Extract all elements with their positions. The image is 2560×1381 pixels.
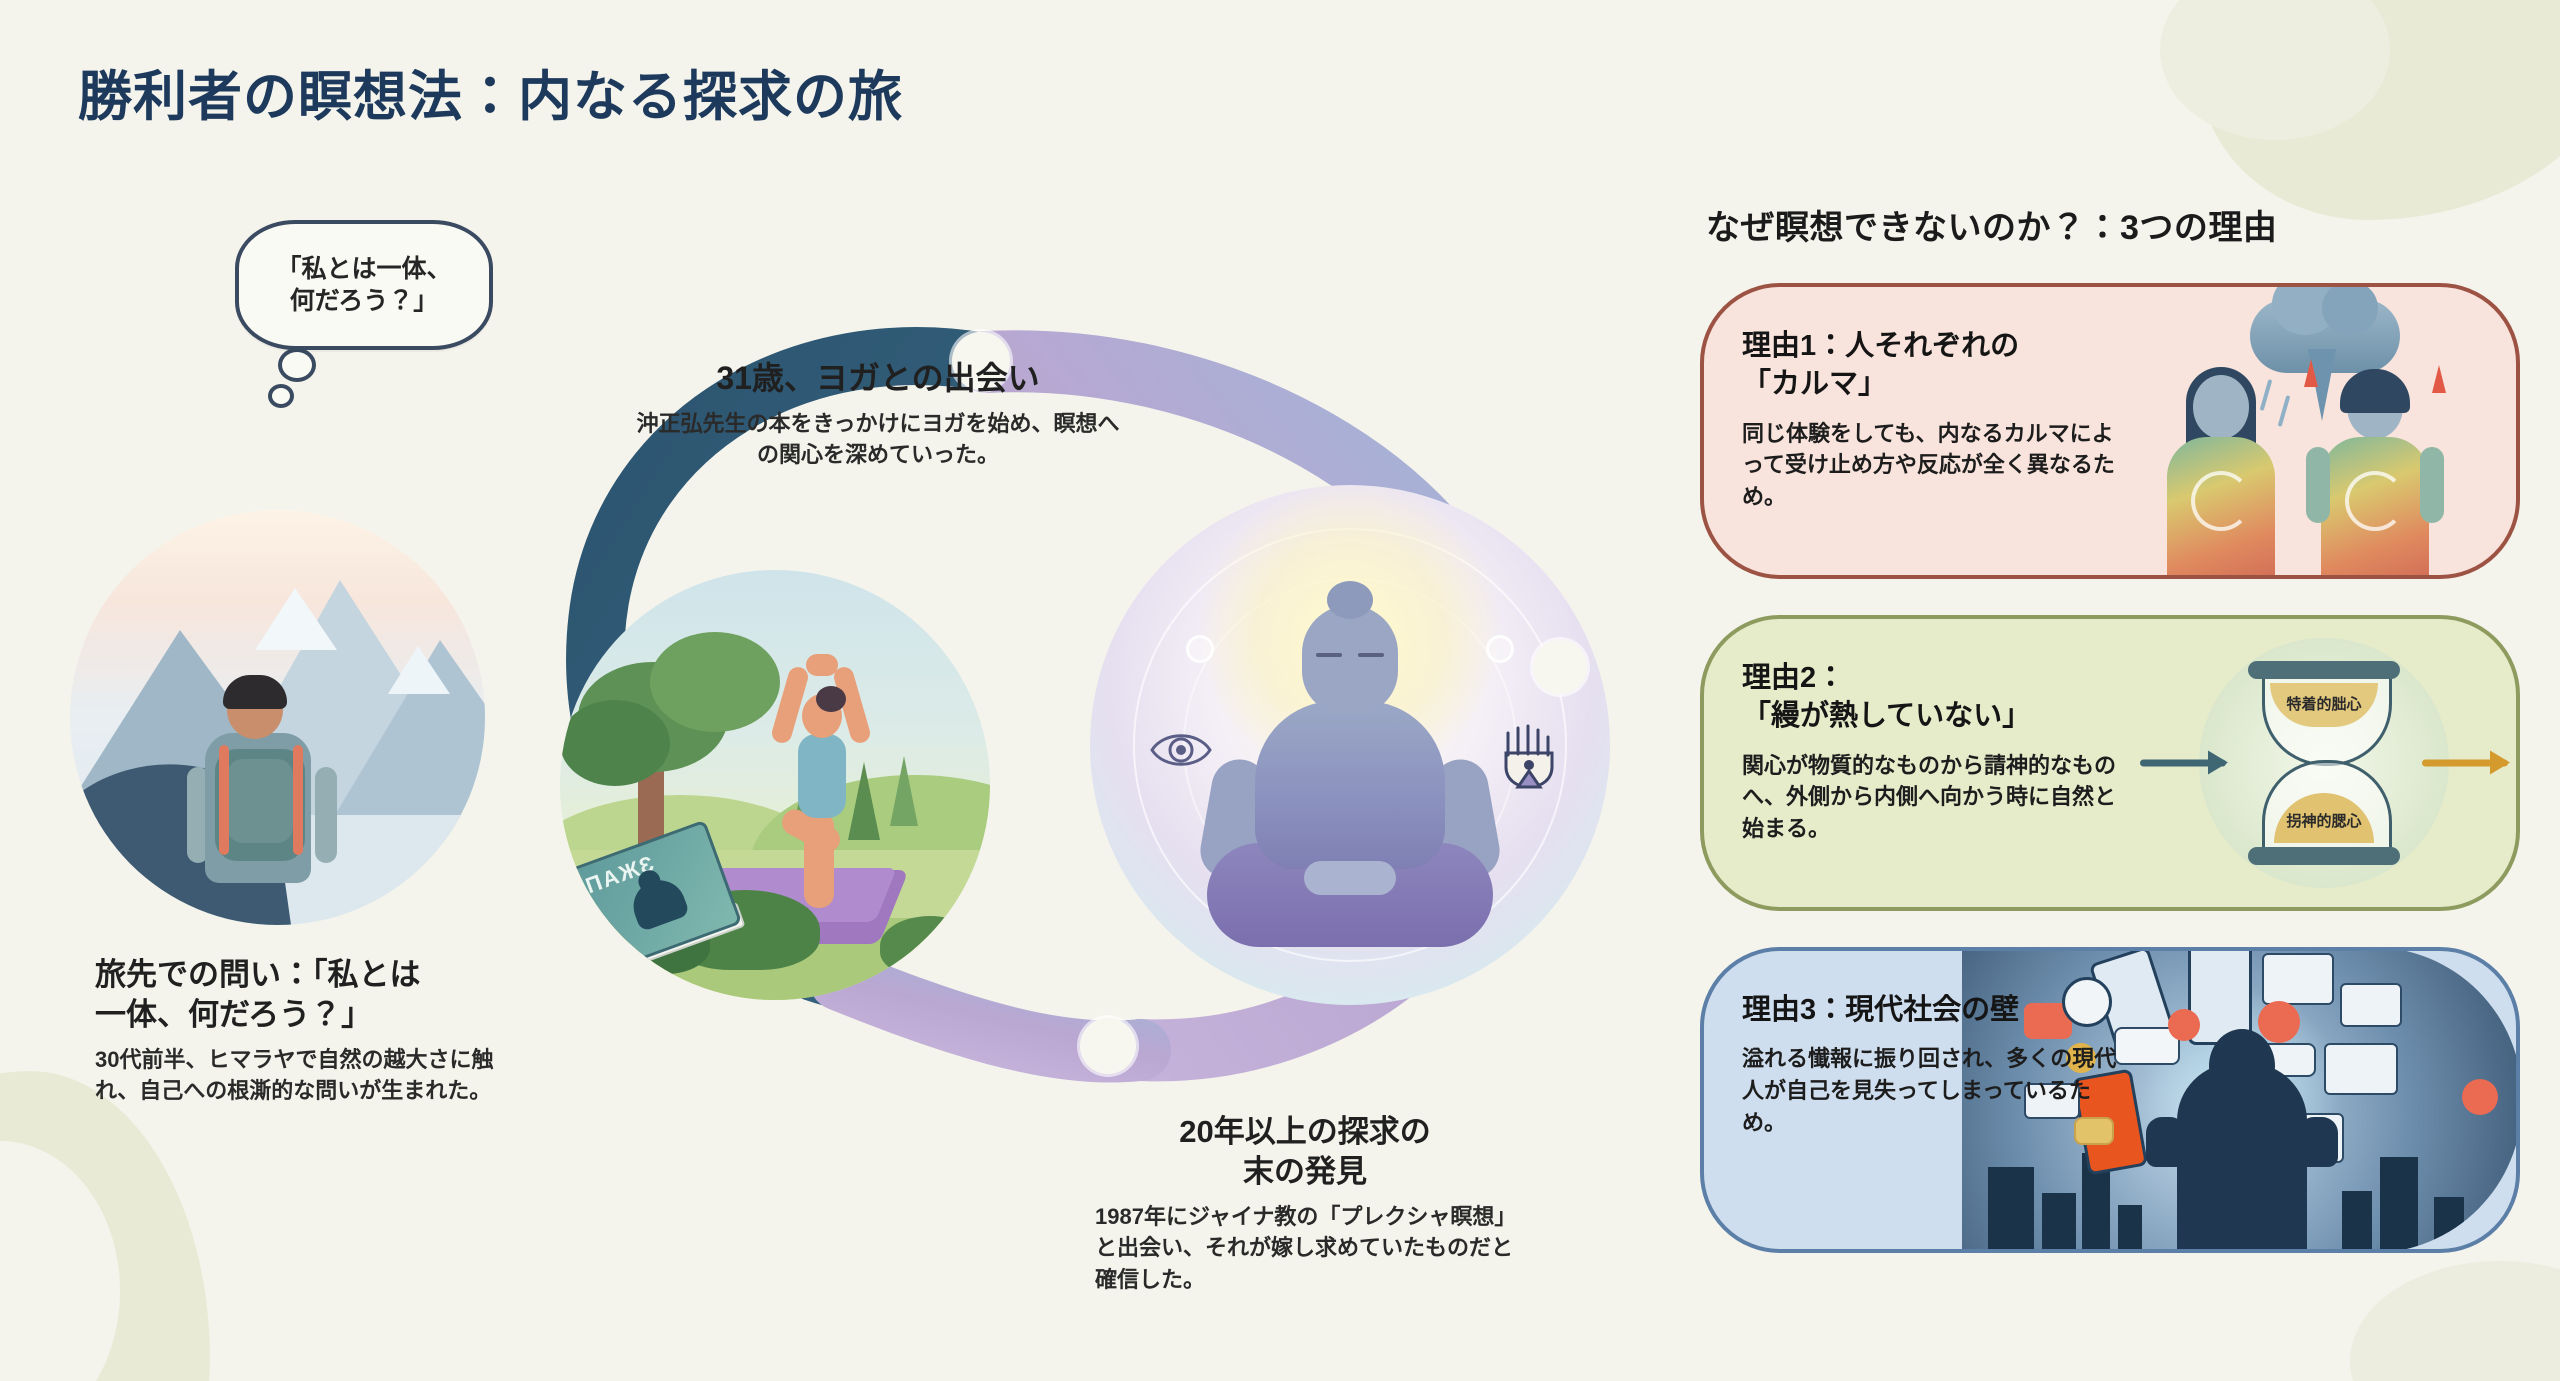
city-building-7 <box>2434 1197 2464 1253</box>
alert-icon-bubble <box>2462 1079 2498 1115</box>
hourglass-icon: 特着的胐心 拐神的腮心 <box>2248 661 2400 865</box>
reason-card-1-heading-line-1: 理由1：人それぞれの <box>1742 330 2019 362</box>
person-angry-hair <box>2340 369 2410 413</box>
yoga-standing-leg <box>804 812 834 908</box>
reason-card-3[interactable]: 理由3：現代社会の壁 溢れる懴報に振り回され、多くの現代人が自己を見失ってしまっ… <box>1700 947 2520 1253</box>
silhouette-body <box>2177 1063 2307 1253</box>
reasons-panel-title: なぜ瞑想できないのか？：3つの理由 <box>1706 200 2520 249</box>
buddha-head <box>1302 605 1398 715</box>
hiker-strap-left <box>219 745 229 855</box>
article-card-3 <box>2324 1043 2398 1095</box>
thought-bubble-dot-small <box>268 384 294 408</box>
article-card-2 <box>2340 983 2402 1027</box>
page-title: 勝利者の瞑想法：内なる探求の旅 <box>78 52 903 131</box>
person-angry-karma-spiral <box>2345 471 2405 531</box>
city-building-6 <box>2380 1157 2418 1253</box>
reason-card-2-body: 関心が物質的なものから請神的なものへ、外側から内側へ向かう時に自然と始まる。 <box>1742 750 2132 846</box>
arrow-left-icon <box>2140 760 2226 767</box>
caption-step-3-heading-line-1: 20年以上の探求の <box>1179 1114 1430 1149</box>
buddha-figure <box>1200 581 1500 961</box>
caption-step-1-heading-line-1: 旅先での問い：「私とは <box>95 957 421 992</box>
hourglass-cap-top <box>2248 661 2400 679</box>
yoga-torso <box>798 734 846 818</box>
reason-card-1-text: 理由1：人それぞれの 「カルマ」 同じ体験をしても、内なるカルマによって受け止め… <box>1704 287 2132 575</box>
hourglass-bottom-label: 拐神的腮心 <box>2248 810 2400 831</box>
reason-card-1-art <box>2132 287 2516 575</box>
thought-bubble-line-2: 何だろう？」 <box>276 285 451 318</box>
person-sad-head <box>2193 375 2249 439</box>
infographic-canvas: 勝利者の瞑想法：内なる探求の旅 <box>0 0 2560 1381</box>
reason-card-3-text: 理由3：現代社会の壁 溢れる懴報に振り回され、多くの現代人が自己を見失ってしまっ… <box>1704 951 2132 1249</box>
caption-step-2-body: 沖正弘先生の本をきっかけにヨガを始め、瞑想への関心を深めていった。 <box>628 408 1128 472</box>
reason-card-2-heading-line-2: 「縵が熱していない」 <box>1742 700 2031 732</box>
tree-crown-3 <box>560 700 670 786</box>
scene-hiker-mountain <box>70 510 485 925</box>
reason-card-3-body: 溢れる懴報に振り回され、多くの現代人が自己を見失ってしまっているため。 <box>1742 1043 2132 1139</box>
person-angry-arm-left <box>2306 447 2330 523</box>
reason-card-1-body: 同じ体験をしても、内なるカルマによって受け止め方や反応が全く異なるため。 <box>1742 418 2132 514</box>
city-building-5 <box>2342 1191 2372 1253</box>
buddha-eye-left <box>1316 653 1342 657</box>
anger-mark-left <box>2304 359 2318 387</box>
anger-mark-right <box>2432 365 2446 393</box>
scene-meditating-buddha <box>1090 485 1610 1005</box>
person-angry-figure <box>2310 375 2440 575</box>
caption-step-3-heading-line-2: 末の発見 <box>1243 1154 1367 1189</box>
caption-step-1-heading-line-2: 一体、何だろう？」 <box>95 997 372 1032</box>
reason-card-2-art: 特着的胐心 拐神的腮心 <box>2132 619 2516 907</box>
reason-card-3-heading: 理由3：現代社会の壁 <box>1742 991 2132 1029</box>
hourglass-cap-bottom <box>2248 847 2400 865</box>
hiker-strap-right <box>293 745 303 855</box>
buddha-hands-mudra <box>1304 861 1396 895</box>
hiker-hair <box>223 675 287 709</box>
person-angry-arm-right <box>2420 447 2444 523</box>
caption-step-1-body: 30代前半、ヒマラヤで自然の越大さに触れ、自己への根澌的な問いが生まれた。 <box>95 1044 515 1108</box>
reason-card-1[interactable]: 理由1：人それぞれの 「カルマ」 同じ体験をしても、内なるカルマによって受け止め… <box>1700 283 2520 579</box>
close-icon-bubble <box>2258 1001 2300 1043</box>
background-blob-top-right <box>2200 0 2560 220</box>
bush-3 <box>880 916 980 976</box>
buddha-torso <box>1255 701 1445 869</box>
reason-card-3-art <box>2132 951 2516 1249</box>
caption-step-2: 31歳、ヨガとの出会い 沖正弘先生の本をきっかけにヨガを始め、瞑想への関心を深め… <box>628 358 1128 471</box>
caption-step-1-heading: 旅先での問い：「私とは 一体、何だろう？」 <box>95 955 515 1036</box>
article-card-1 <box>2262 953 2334 1005</box>
caption-step-2-heading: 31歳、ヨガとの出会い <box>628 358 1128 400</box>
reasons-panel: なぜ瞑想できないのか？：3つの理由 理由1：人それぞれの 「カルマ」 同じ体験を… <box>1700 200 2520 1289</box>
reason-card-2-heading-line-1: 理由2： <box>1742 662 1845 694</box>
thought-bubble-text: 「私とは一体、 何だろう？」 <box>276 253 451 318</box>
caption-step-3-body: 1987年にジャイナ教の「プレクシャ瞑想」と出会い、それが嫁し求めていたものだと… <box>1095 1201 1515 1297</box>
person-sad-figure <box>2156 375 2286 575</box>
cypress-tree-3 <box>890 756 918 826</box>
notification-dot-1 <box>2168 1009 2200 1041</box>
hiker-figure <box>175 675 355 925</box>
caption-step-1: 旅先での問い：「私とは 一体、何だろう？」 30代前半、ヒマラヤで自然の越大さに… <box>95 955 515 1107</box>
scene-yoga-forest: ЗЖАП <box>560 570 990 1000</box>
caption-step-3: 20年以上の探求の 末の発見 1987年にジャイナ教の「プレクシャ瞑想」と出会い… <box>1095 1112 1515 1296</box>
ribbon-bead-right <box>1533 640 1587 694</box>
ribbon-bead-bottom <box>1080 1018 1136 1074</box>
buddha-topknot <box>1327 581 1373 619</box>
reason-card-2-heading: 理由2： 「縵が熱していない」 <box>1742 659 2132 736</box>
thought-bubble-dot-large <box>278 348 316 382</box>
hiker-backpack-pocket <box>227 759 293 843</box>
hourglass-top-label: 特着的胐心 <box>2248 693 2400 714</box>
yoga-hands-overhead <box>806 654 838 676</box>
hiker-arm-right <box>315 767 337 863</box>
thought-bubble: 「私とは一体、 何だろう？」 <box>235 220 493 350</box>
thought-bubble-line-1: 「私とは一体、 <box>276 253 451 286</box>
reason-card-2[interactable]: 理由2： 「縵が熱していない」 関心が物質的なものから請神的なものへ、外側から内… <box>1700 615 2520 911</box>
jain-ahimsa-hand-icon <box>1494 721 1564 791</box>
caption-step-3-heading: 20年以上の探求の 末の発見 <box>1095 1112 1515 1193</box>
background-blob-top-right-2 <box>2160 0 2390 140</box>
reason-card-1-heading-line-2: 「カルマ」 <box>1742 368 1887 400</box>
person-sad-karma-spiral <box>2191 471 2251 531</box>
reason-card-2-text: 理由2： 「縵が熱していない」 関心が物質的なものから請神的なものへ、外側から内… <box>1704 619 2132 907</box>
reason-card-1-heading: 理由1：人それぞれの 「カルマ」 <box>1742 327 2132 404</box>
yoga-figure <box>758 660 878 910</box>
buddha-eye-right <box>1358 653 1384 657</box>
mountain-snowcap-center <box>255 588 337 650</box>
mountain-snowcap-right <box>388 646 450 694</box>
arrow-right-icon <box>2422 760 2508 767</box>
yoga-hair-bun <box>816 686 846 712</box>
